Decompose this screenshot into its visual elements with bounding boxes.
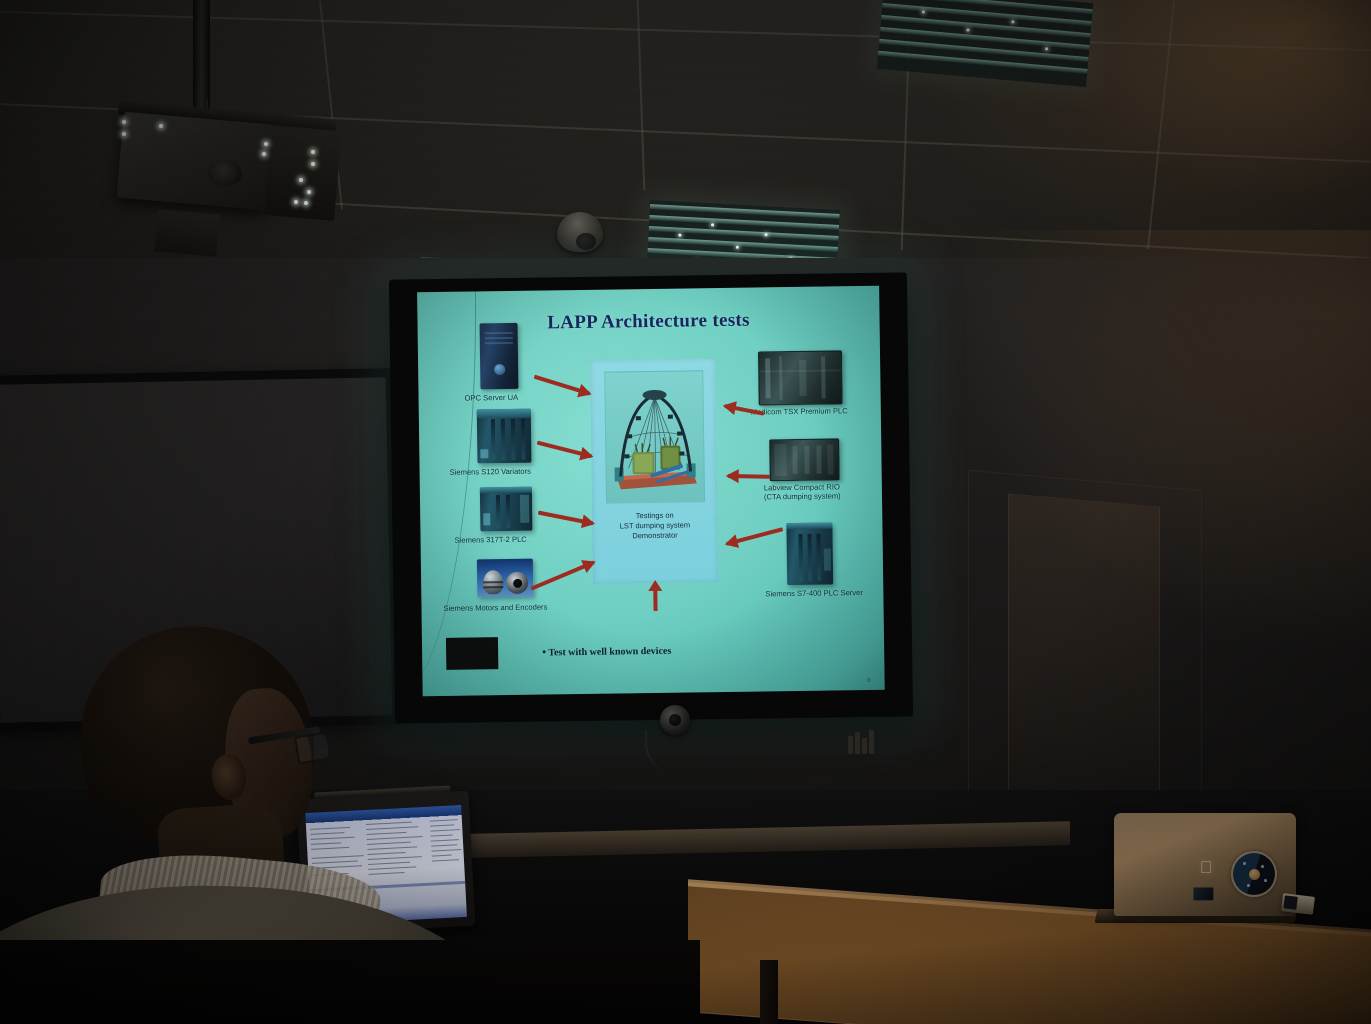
- table-leg: [760, 960, 778, 1024]
- slide-node-label: Siemens S120 Variators: [450, 467, 531, 477]
- slide-arrow-modicom-to-center: [724, 404, 764, 416]
- slide-arrow-s7400-to-center: [726, 527, 783, 546]
- projector-status-led: [122, 120, 126, 124]
- usb-stick: [1281, 893, 1315, 915]
- projector-status-led: [122, 132, 126, 136]
- projector-status-led: [304, 201, 308, 205]
- slide-arrow-motors-to-center: [530, 560, 594, 590]
- ceiling-projector: [117, 112, 274, 211]
- projector-status-led: [307, 190, 311, 194]
- telescope-dish-illustration: [605, 371, 704, 502]
- projector-status-led: [264, 142, 268, 146]
- slide-center-caption: Testings on LST dumping system Demonstra…: [596, 510, 713, 542]
- slide-node-label: Siemens 317T-2 PLC: [455, 535, 527, 545]
- slide-node-compact-rio: Labview Compact RIO (CTA dumping system): [769, 438, 840, 481]
- slide-node-motors: Siemens Motors and Encoders: [477, 559, 534, 598]
- tower-pc-icon: [480, 323, 519, 390]
- photo-panel-icon: [758, 350, 843, 405]
- macbook-on-table: : [1096, 813, 1296, 923]
- telescope-dish-demonstrator-image: [604, 370, 705, 503]
- slide-bullet: • Test with well known devices: [542, 645, 671, 659]
- dome-camera-lens: [576, 233, 596, 250]
- foreground-shadow: [0, 940, 700, 1024]
- slide-node-label: Siemens S7-400 PLC Server: [765, 588, 863, 598]
- slide-node-s7-400: Siemens S7-400 PLC Server: [786, 522, 833, 585]
- slide-arrow-opc-to-center: [534, 375, 591, 396]
- slide-arrow-s120-to-center: [537, 441, 592, 459]
- bullet-marker: •: [542, 646, 546, 658]
- siemens-plc-icon: [480, 487, 533, 532]
- projector-connector-panel: [264, 125, 342, 221]
- circular-badge-sticker: [1231, 851, 1277, 897]
- siemens-server-icon: [786, 522, 833, 585]
- marker-tray: [848, 730, 874, 754]
- conference-room-photo: LAPP Architecture tests: [0, 0, 1371, 1024]
- sticker-core: [1249, 869, 1260, 880]
- glasses-lens: [294, 732, 332, 765]
- slide-node-opc-server: OPC Server UA: [480, 323, 519, 390]
- projector-shadow-block: [154, 209, 219, 256]
- slide-arrow-up: [653, 589, 657, 611]
- slide-page-number: 8: [867, 678, 870, 684]
- slide-node-317t2: Siemens 317T-2 PLC: [480, 487, 533, 532]
- slide-node-modicom: Modicom TSX Premium PLC: [758, 350, 843, 405]
- motor-encoder-icon: [477, 559, 534, 598]
- slide-node-label: Siemens Motors and Encoders: [443, 602, 547, 612]
- slide-center-panel: Testings on LST dumping system Demonstra…: [590, 358, 718, 584]
- projector-status-led: [262, 152, 266, 156]
- projector-status-led: [159, 124, 163, 128]
- projector-status-led: [299, 178, 303, 182]
- projector-status-led: [311, 162, 315, 166]
- projector-status-led: [311, 150, 315, 154]
- bullet-text: Test with well known devices: [548, 646, 671, 659]
- apple-logo-icon: : [1198, 859, 1214, 877]
- center-caption-line-3: Demonstrator: [596, 530, 713, 542]
- small-sticker: [1193, 887, 1214, 901]
- siemens-rack-icon: [477, 409, 532, 464]
- slide-node-label: Modicom TSX Premium PLC: [751, 406, 848, 416]
- projector-status-led: [294, 200, 298, 204]
- usb-cap: [1283, 895, 1297, 909]
- compact-rio-label-line-2: (CTA dumping system): [764, 491, 841, 501]
- slide-node-label: OPC Server UA: [465, 393, 519, 403]
- slide-node-s120: Siemens S120 Variators: [477, 409, 532, 464]
- ceiling-dome-camera: [557, 212, 603, 252]
- macbook-lid: : [1114, 813, 1296, 916]
- slide-node-label: Labview Compact RIO (CTA dumping system): [764, 482, 850, 501]
- slide-arrow-317t2-to-center: [538, 511, 594, 526]
- compact-rio-icon: [769, 438, 840, 481]
- webcam-lens: [669, 714, 681, 726]
- wall-panel: [1008, 493, 1160, 808]
- slide-arrow-crio-to-center: [728, 474, 770, 479]
